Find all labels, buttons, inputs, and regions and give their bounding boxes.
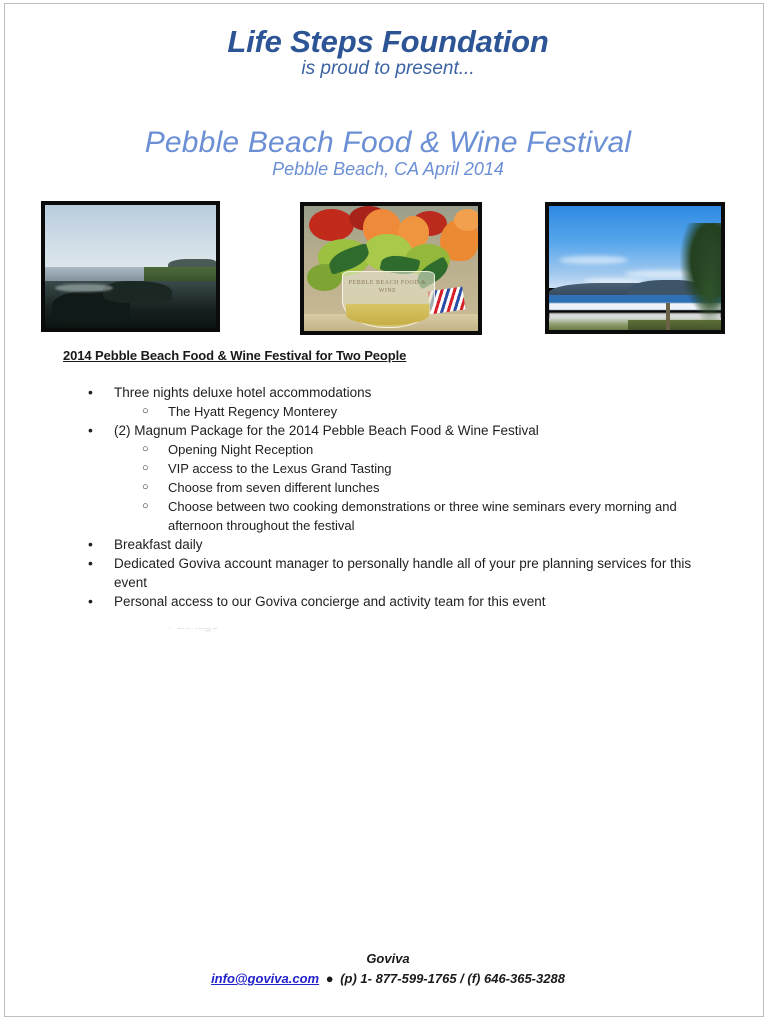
list-item: ○ Choose from seven different lunches <box>63 478 723 497</box>
bullet-disc-icon: • <box>88 554 114 573</box>
list-item-label: Choose between two cooking demonstration… <box>168 497 723 535</box>
photo-pebble-beach-wine-glass-floral: PEBBLE BEACH FOOD & WINE <box>300 202 482 335</box>
list-item: ○ Opening Night Reception <box>63 440 723 459</box>
list-item: • Breakfast daily <box>63 535 723 554</box>
footer-contact-line: info@goviva.com ● (p) 1- 877-599-1765 / … <box>0 971 776 986</box>
clipped-text-fragment: • Package <box>160 628 420 637</box>
event-title: Pebble Beach Food & Wine Festival <box>0 126 776 160</box>
clipped-text-fragment-label: • Package <box>160 628 420 632</box>
list-item: ○ VIP access to the Lexus Grand Tasting <box>63 459 723 478</box>
wine-glass-etching: PEBBLE BEACH FOOD & WINE <box>346 279 430 302</box>
white-wine-pour <box>346 304 430 325</box>
organization-title: Life Steps Foundation <box>0 24 776 60</box>
list-item-label: (2) Magnum Package for the 2014 Pebble B… <box>114 421 723 440</box>
package-bullet-list: • Three nights deluxe hotel accommodatio… <box>63 383 723 611</box>
footer-email-link[interactable]: info@goviva.com <box>211 971 319 986</box>
list-item: • Dedicated Goviva account manager to pe… <box>63 554 723 592</box>
rock-shape-b <box>103 281 171 303</box>
document-page: Life Steps Foundation is proud to presen… <box>0 0 776 1023</box>
pine-tree-lower <box>693 261 721 325</box>
fence-post <box>666 303 670 330</box>
bullet-circle-icon: ○ <box>142 478 168 497</box>
event-location: Pebble Beach, CA April 2014 <box>0 159 776 180</box>
package-heading: 2014 Pebble Beach Food & Wine Festival f… <box>63 348 406 363</box>
photo-2-content: PEBBLE BEACH FOOD & WINE <box>304 206 478 331</box>
bullet-circle-icon: ○ <box>142 497 168 516</box>
bullet-disc-icon: • <box>88 535 114 554</box>
organization-tagline: is proud to present... <box>0 58 776 80</box>
photo-1-content <box>45 205 216 328</box>
list-item-label: Opening Night Reception <box>168 440 723 459</box>
list-item: • Three nights deluxe hotel accommodatio… <box>63 383 723 402</box>
list-item-label: Dedicated Goviva account manager to pers… <box>114 554 723 592</box>
bullet-separator-icon: ● <box>323 971 337 986</box>
flower-red-1 <box>309 209 354 242</box>
bullet-circle-icon: ○ <box>142 402 168 421</box>
bullet-disc-icon: • <box>88 592 114 611</box>
list-item: ○ Choose between two cooking demonstrati… <box>63 497 723 535</box>
flower-orange-4 <box>454 209 478 232</box>
list-item-label: Three nights deluxe hotel accommodations <box>114 383 723 402</box>
list-item: • (2) Magnum Package for the 2014 Pebble… <box>63 421 723 440</box>
list-item-label: VIP access to the Lexus Grand Tasting <box>168 459 723 478</box>
list-item-label: Personal access to our Goviva concierge … <box>114 592 723 611</box>
photo-carmel-bay-blue-sky <box>545 202 725 334</box>
footer-company-name: Goviva <box>0 951 776 966</box>
bullet-disc-icon: • <box>88 383 114 402</box>
list-item: ○ The Hyatt Regency Monterey <box>63 402 723 421</box>
list-item-label: The Hyatt Regency Monterey <box>168 402 723 421</box>
bullet-circle-icon: ○ <box>142 459 168 478</box>
photo-3-content <box>549 206 721 330</box>
photo-pebble-beach-coastline-dusk <box>41 201 220 332</box>
list-item: • Personal access to our Goviva concierg… <box>63 592 723 611</box>
list-item-label: Choose from seven different lunches <box>168 478 723 497</box>
list-item-label: Breakfast daily <box>114 535 723 554</box>
footer-phone-label: (p) 1- 877-599-1765 / (f) 646-365-3288 <box>340 971 565 986</box>
bullet-disc-icon: • <box>88 421 114 440</box>
bullet-circle-icon: ○ <box>142 440 168 459</box>
